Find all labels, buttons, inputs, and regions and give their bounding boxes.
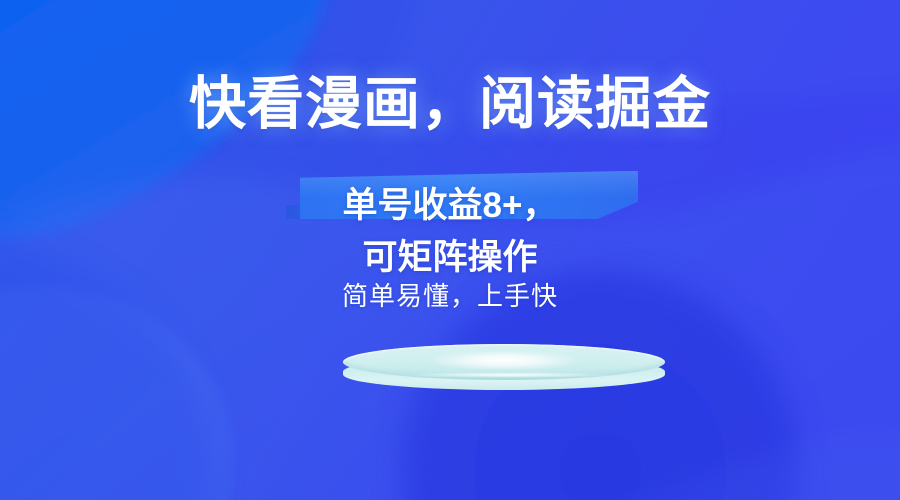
subtitle: 单号收益8+， 可矩阵操作 bbox=[0, 180, 900, 284]
display-podium bbox=[343, 344, 665, 394]
promo-poster: 快看漫画，阅读掘金 单号收益8+， 可矩阵操作 简单易懂，上手快 bbox=[0, 0, 900, 500]
subtitle-line-1: 单号收益8+， bbox=[343, 186, 558, 225]
page-title: 快看漫画，阅读掘金 bbox=[0, 76, 900, 133]
tagline: 简单易懂，上手快 bbox=[0, 276, 900, 313]
podium-gloss-highlight bbox=[403, 372, 613, 378]
